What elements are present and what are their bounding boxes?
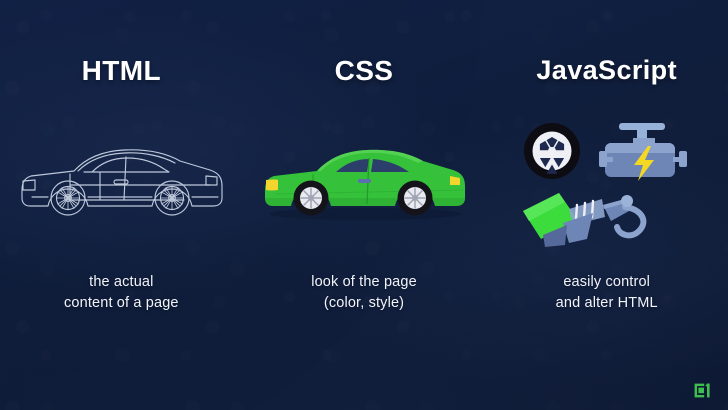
caption-javascript: easily control and alter HTML: [485, 272, 728, 314]
car-parts-icons-group: [507, 113, 707, 253]
spray-gun-icon: [523, 193, 643, 247]
caption-line: the actual: [0, 272, 243, 293]
column-html: HTML: [0, 0, 243, 410]
heading-javascript: JavaScript: [536, 57, 677, 84]
caption-line: easily control: [485, 272, 728, 293]
visual-css: [243, 110, 486, 255]
column-css: CSS: [243, 0, 486, 410]
slide-canvas: HTML: [0, 0, 728, 410]
visual-html: [0, 110, 243, 255]
heading-html: HTML: [82, 57, 161, 85]
caption-line: (color, style): [243, 293, 486, 314]
wheel-front: [293, 180, 328, 215]
wheel-rear: [397, 180, 432, 215]
heading-css: CSS: [335, 57, 394, 85]
visual-javascript: [485, 110, 728, 255]
caption-line: look of the page: [243, 272, 486, 293]
three-column-layout: HTML: [0, 0, 728, 410]
engine-lightning-icon: [599, 123, 687, 181]
brand-logo-mark-icon: [693, 382, 715, 399]
car-painted-green-icon: [257, 128, 472, 238]
column-javascript: JavaScript: [485, 0, 728, 410]
caption-line: content of a page: [0, 293, 243, 314]
tire-icon: [524, 123, 580, 179]
caption-line: and alter HTML: [485, 293, 728, 314]
caption-css: look of the page (color, style): [243, 272, 486, 314]
caption-html: the actual content of a page: [0, 272, 243, 314]
car-wireframe-outline-icon: [14, 128, 229, 238]
